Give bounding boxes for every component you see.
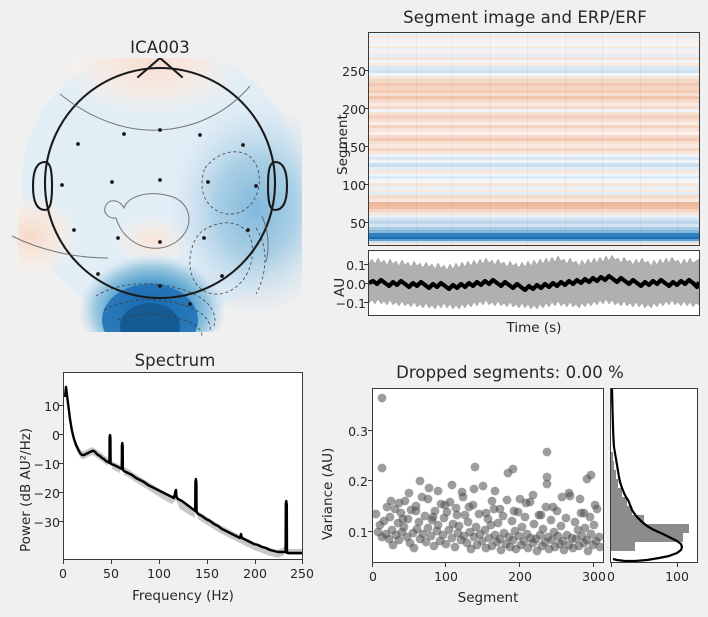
erp-axes bbox=[368, 250, 700, 316]
erp-ytick-pos: 0.1 bbox=[330, 258, 366, 273]
dropped-xtick-100: 100 bbox=[431, 569, 461, 584]
variance-scatter bbox=[373, 389, 603, 562]
spectrum-ytick-m20: −20 bbox=[22, 486, 60, 501]
topomap-panel: ICA003 bbox=[0, 10, 320, 330]
histogram-xtick-100: 100 bbox=[662, 569, 692, 584]
ica-properties-figure: ICA003 bbox=[0, 0, 708, 617]
dropped-scatter-axes bbox=[372, 388, 604, 563]
dropped-xtick-mark bbox=[372, 563, 373, 567]
spectrum-panel: Spectrum Power (dB AU²/Hz) 10 0 −10 −20 … bbox=[0, 345, 330, 617]
segment-ytick-250: 250 bbox=[338, 64, 366, 79]
topomap-title: ICA003 bbox=[0, 38, 320, 57]
segment-ytick-150: 150 bbox=[338, 140, 366, 155]
spectrum-ytick-10: 10 bbox=[28, 399, 60, 414]
dropped-ytick-01: 0.1 bbox=[332, 525, 368, 540]
spectrum-ytick-m10: −10 bbox=[22, 457, 60, 472]
dropped-xtick-mark bbox=[519, 563, 520, 567]
variance-histogram-axes bbox=[610, 388, 698, 563]
dropped-ytick-02: 0.2 bbox=[332, 474, 368, 489]
spectrum-plot bbox=[64, 373, 302, 559]
dropped-segments-panel: Dropped segments: 0.00 % Variance (AU) 0… bbox=[330, 345, 708, 617]
segment-image-title: Segment image and ERP/ERF bbox=[350, 8, 700, 27]
dropped-ytick-03: 0.3 bbox=[332, 424, 368, 439]
segment-ytick-50: 50 bbox=[338, 216, 366, 231]
variance-histogram bbox=[611, 389, 697, 562]
spectrum-xtick-mark bbox=[63, 560, 64, 564]
dropped-xtick-0: 0 bbox=[358, 569, 388, 584]
spectrum-xtick-mark bbox=[207, 560, 208, 564]
segment-image-panel: Segment image and ERP/ERF Segment 250 20… bbox=[320, 0, 708, 340]
dropped-xtick-mark bbox=[593, 563, 594, 567]
segment-image-heatmap bbox=[369, 33, 699, 245]
spectrum-xtick-mark bbox=[159, 560, 160, 564]
dropped-segments-title: Dropped segments: 0.00 % bbox=[350, 363, 670, 382]
erp-ytick-neg: −0.1 bbox=[330, 296, 366, 311]
histogram-xtick-mark bbox=[677, 563, 678, 567]
spectrum-ytick-0: 0 bbox=[28, 428, 60, 443]
erp-time-axis-label: Time (s) bbox=[368, 320, 700, 336]
segment-image-axes bbox=[368, 32, 700, 246]
erp-trace bbox=[369, 251, 699, 315]
spectrum-xtick-100: 100 bbox=[144, 566, 174, 581]
segment-ytick-100: 100 bbox=[338, 178, 366, 193]
spectrum-xtick-mark bbox=[111, 560, 112, 564]
spectrum-xtick-50: 50 bbox=[96, 566, 126, 581]
spectrum-xtick-mark bbox=[255, 560, 256, 564]
spectrum-xtick-0: 0 bbox=[48, 566, 78, 581]
spectrum-xtick-mark bbox=[302, 560, 303, 564]
spectrum-axes bbox=[63, 372, 303, 560]
spectrum-xtick-250: 250 bbox=[287, 566, 317, 581]
spectrum-title: Spectrum bbox=[40, 351, 310, 370]
histogram-xtick-0: 0 bbox=[600, 569, 622, 584]
spectrum-xtick-200: 200 bbox=[240, 566, 270, 581]
spectrum-ytick-m30: −30 bbox=[22, 515, 60, 530]
dropped-xtick-mark bbox=[445, 563, 446, 567]
histogram-xtick-mark bbox=[611, 563, 612, 567]
spectrum-x-axis-label: Frequency (Hz) bbox=[63, 588, 303, 604]
topomap-image bbox=[0, 58, 320, 348]
spectrum-xtick-150: 150 bbox=[192, 566, 222, 581]
dropped-x-axis-label: Segment bbox=[372, 590, 604, 606]
erp-axis-label: AU bbox=[332, 278, 348, 297]
segment-ytick-200: 200 bbox=[338, 102, 366, 117]
dropped-xtick-200: 200 bbox=[505, 569, 535, 584]
